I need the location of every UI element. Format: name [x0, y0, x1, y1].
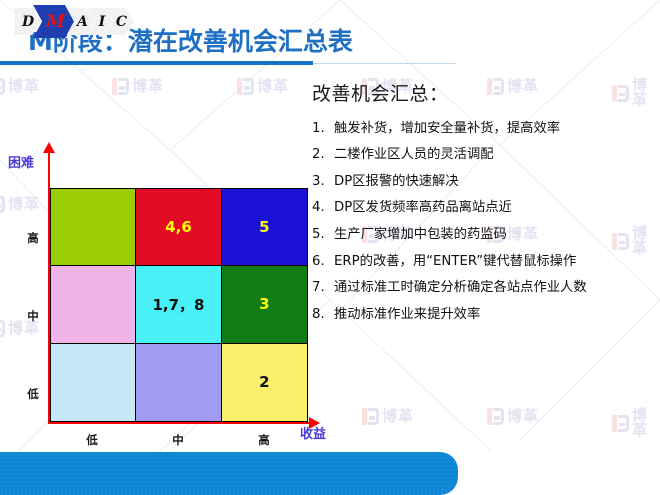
- dmaic-step-label: A: [77, 14, 88, 30]
- list-item-label: 二楼作业区人员的灵活调配: [334, 145, 656, 165]
- x-axis-tick: 低: [72, 432, 112, 448]
- x-axis-tick: 高: [244, 432, 284, 448]
- brand-logo-icon: [112, 78, 129, 95]
- list-item: 2.二楼作业区人员的灵活调配: [312, 145, 656, 165]
- list-item-number: 5.: [312, 225, 334, 245]
- list-item-label: ERP的改善，用“ENTER”键代替鼠标操作: [334, 252, 656, 272]
- brand-logo-icon: [0, 78, 5, 95]
- list-item-label: DP区报警的快速解决: [334, 172, 656, 192]
- watermark-text: 博革: [257, 79, 289, 94]
- matrix-cell[interactable]: [51, 189, 136, 266]
- list-item-number: 8.: [312, 305, 334, 325]
- y-axis-tick: 高: [22, 230, 44, 246]
- y-axis-tick: 低: [22, 386, 44, 402]
- list-item-number: 2.: [312, 145, 334, 165]
- matrix-cell[interactable]: 4,6: [136, 189, 221, 266]
- matrix-cell[interactable]: 5: [222, 189, 307, 266]
- dmaic-step-label: M: [46, 12, 65, 32]
- dmaic-step-label: D: [22, 14, 34, 30]
- list-item: 8.推动标准作业来提升效率: [312, 305, 656, 325]
- matrix-cell-label: 1,7，8: [152, 294, 204, 315]
- list-item-label: DP区发货频率高药品离站点近: [334, 198, 656, 218]
- dmaic-step-label: C: [116, 14, 127, 30]
- list-item-number: 3.: [312, 172, 334, 192]
- matrix-cell-label: 3: [259, 295, 269, 313]
- brand-logo-icon: [362, 408, 379, 425]
- footer-bar: [0, 452, 458, 495]
- watermark-text: 博革: [382, 409, 414, 424]
- list-heading: 改善机会汇总：: [312, 84, 656, 105]
- matrix-grid: 4,6 5 1,7，8 3 2: [50, 188, 308, 422]
- matrix-cell[interactable]: [51, 344, 136, 421]
- list-item: 6.ERP的改善，用“ENTER”键代替鼠标操作: [312, 252, 656, 272]
- matrix-cell[interactable]: 3: [222, 266, 307, 343]
- list-item-number: 6.: [312, 252, 334, 272]
- list-item-label: 触发补货，增加安全量补货，提高效率: [334, 119, 656, 139]
- brand-logo-icon: [487, 408, 504, 425]
- list-item-label: 生产厂家增加中包装的药监码: [334, 225, 656, 245]
- x-axis-line: [48, 422, 310, 424]
- list-item: 3.DP区报警的快速解决: [312, 172, 656, 192]
- watermark-text: 博革: [8, 79, 40, 94]
- dmaic-stepper: D M A I C: [14, 8, 126, 35]
- y-axis-tick: 中: [22, 308, 44, 324]
- list-item-number: 7.: [312, 278, 334, 298]
- matrix-cell[interactable]: 1,7，8: [136, 266, 221, 343]
- dmaic-step-label: I: [99, 14, 106, 30]
- brand-logo-icon: [612, 415, 629, 432]
- brand-logo-icon: [237, 78, 254, 95]
- y-axis-label: 困难: [8, 152, 34, 171]
- matrix-cell[interactable]: [136, 344, 221, 421]
- improvement-opportunities-panel: 改善机会汇总： 1.触发补货，增加安全量补货，提高效率 2.二楼作业区人员的灵活…: [312, 84, 656, 331]
- list-item-label: 推动标准作业来提升效率: [334, 305, 656, 325]
- list-item-label: 通过标准工时确定分析确定各站点作业人数: [334, 278, 656, 298]
- list-item-number: 1.: [312, 119, 334, 139]
- watermark-text: 博革: [507, 409, 539, 424]
- matrix-cell[interactable]: 2: [222, 344, 307, 421]
- list-item: 1.触发补货，增加安全量补货，提高效率: [312, 119, 656, 139]
- list-item: 7.通过标准工时确定分析确定各站点作业人数: [312, 278, 656, 298]
- matrix-cell-label: 4,6: [165, 218, 192, 236]
- x-axis-tick: 中: [158, 432, 198, 448]
- watermark-text: 博革: [632, 408, 660, 438]
- list-item-number: 4.: [312, 198, 334, 218]
- matrix-cell[interactable]: [51, 266, 136, 343]
- slide-canvas: 博革 博革 博革 博革 博革 博革 博革 博革 博革 博革 博革 博革 博革 博…: [0, 0, 660, 495]
- footer-pattern: [0, 452, 458, 495]
- title-underline-thick: [0, 61, 313, 65]
- opportunity-list: 1.触发补货，增加安全量补货，提高效率 2.二楼作业区人员的灵活调配 3.DP区…: [312, 119, 656, 324]
- list-item: 4.DP区发货频率高药品离站点近: [312, 198, 656, 218]
- list-item: 5.生产厂家增加中包装的药监码: [312, 225, 656, 245]
- priority-matrix: 困难 收益 高 中 低 低 中 高 4,6 5 1,7，8 3 2: [0, 140, 312, 440]
- title-underline-thin: [313, 63, 456, 64]
- watermark-text: 博革: [132, 79, 164, 94]
- matrix-cell-label: 2: [259, 373, 269, 391]
- matrix-cell-label: 5: [259, 218, 269, 236]
